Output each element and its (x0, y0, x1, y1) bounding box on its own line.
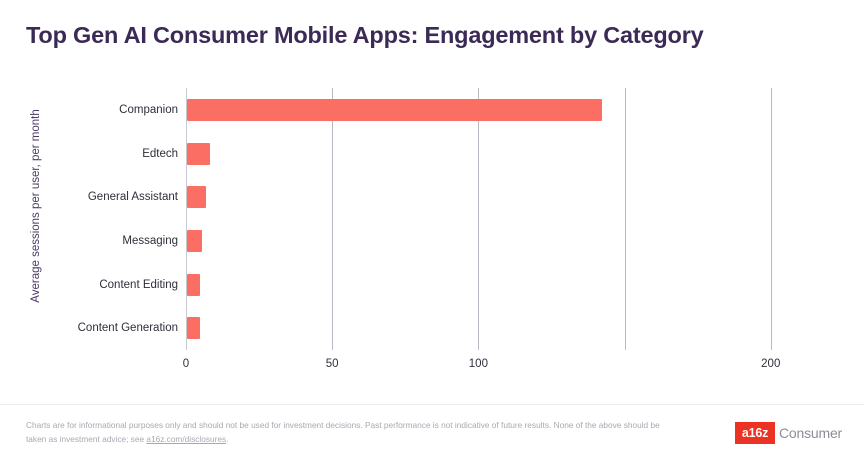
gridline-50 (332, 88, 333, 350)
a16z-logo-word: Consumer (779, 425, 842, 441)
y-axis-tick-label: Content Generation (40, 322, 178, 334)
footer: Charts are for informational purposes on… (0, 404, 864, 468)
x-axis-tick-label: 100 (469, 358, 488, 370)
disclaimer-part1: Charts are for informational purposes on… (26, 420, 660, 444)
bar[interactable] (187, 274, 200, 296)
bar[interactable] (187, 317, 200, 339)
gridline-0 (186, 88, 187, 350)
bar[interactable] (187, 143, 210, 165)
plot-area (186, 88, 800, 350)
a16z-logo-mark: a16z (735, 422, 775, 444)
bar-chart: Average sessions per user, per month Com… (0, 0, 864, 400)
gridline-150 (625, 88, 626, 350)
x-axis-tick-label: 200 (761, 358, 780, 370)
gridline-100 (478, 88, 479, 350)
a16z-consumer-logo: a16z Consumer (735, 422, 842, 444)
y-axis-tick-label: Content Editing (40, 279, 178, 291)
y-axis-tick-label: Messaging (40, 235, 178, 247)
bar[interactable] (187, 99, 602, 121)
disclaimer-text: Charts are for informational purposes on… (26, 419, 671, 446)
gridline-200 (771, 88, 772, 350)
y-axis-tick-label: Companion (40, 104, 178, 116)
disclosures-link[interactable]: a16z.com/disclosures (146, 434, 226, 444)
x-axis-tick-labels: 050100200 (186, 358, 800, 378)
y-axis-tick-label: General Assistant (40, 191, 178, 203)
disclaimer-part2: . (226, 434, 228, 444)
bar[interactable] (187, 230, 202, 252)
y-axis-tick-label: Edtech (40, 148, 178, 160)
y-axis-tick-labels: CompanionEdtechGeneral AssistantMessagin… (40, 88, 178, 350)
x-axis-tick-label: 50 (326, 358, 339, 370)
bar[interactable] (187, 186, 206, 208)
x-axis-tick-label: 0 (183, 358, 189, 370)
